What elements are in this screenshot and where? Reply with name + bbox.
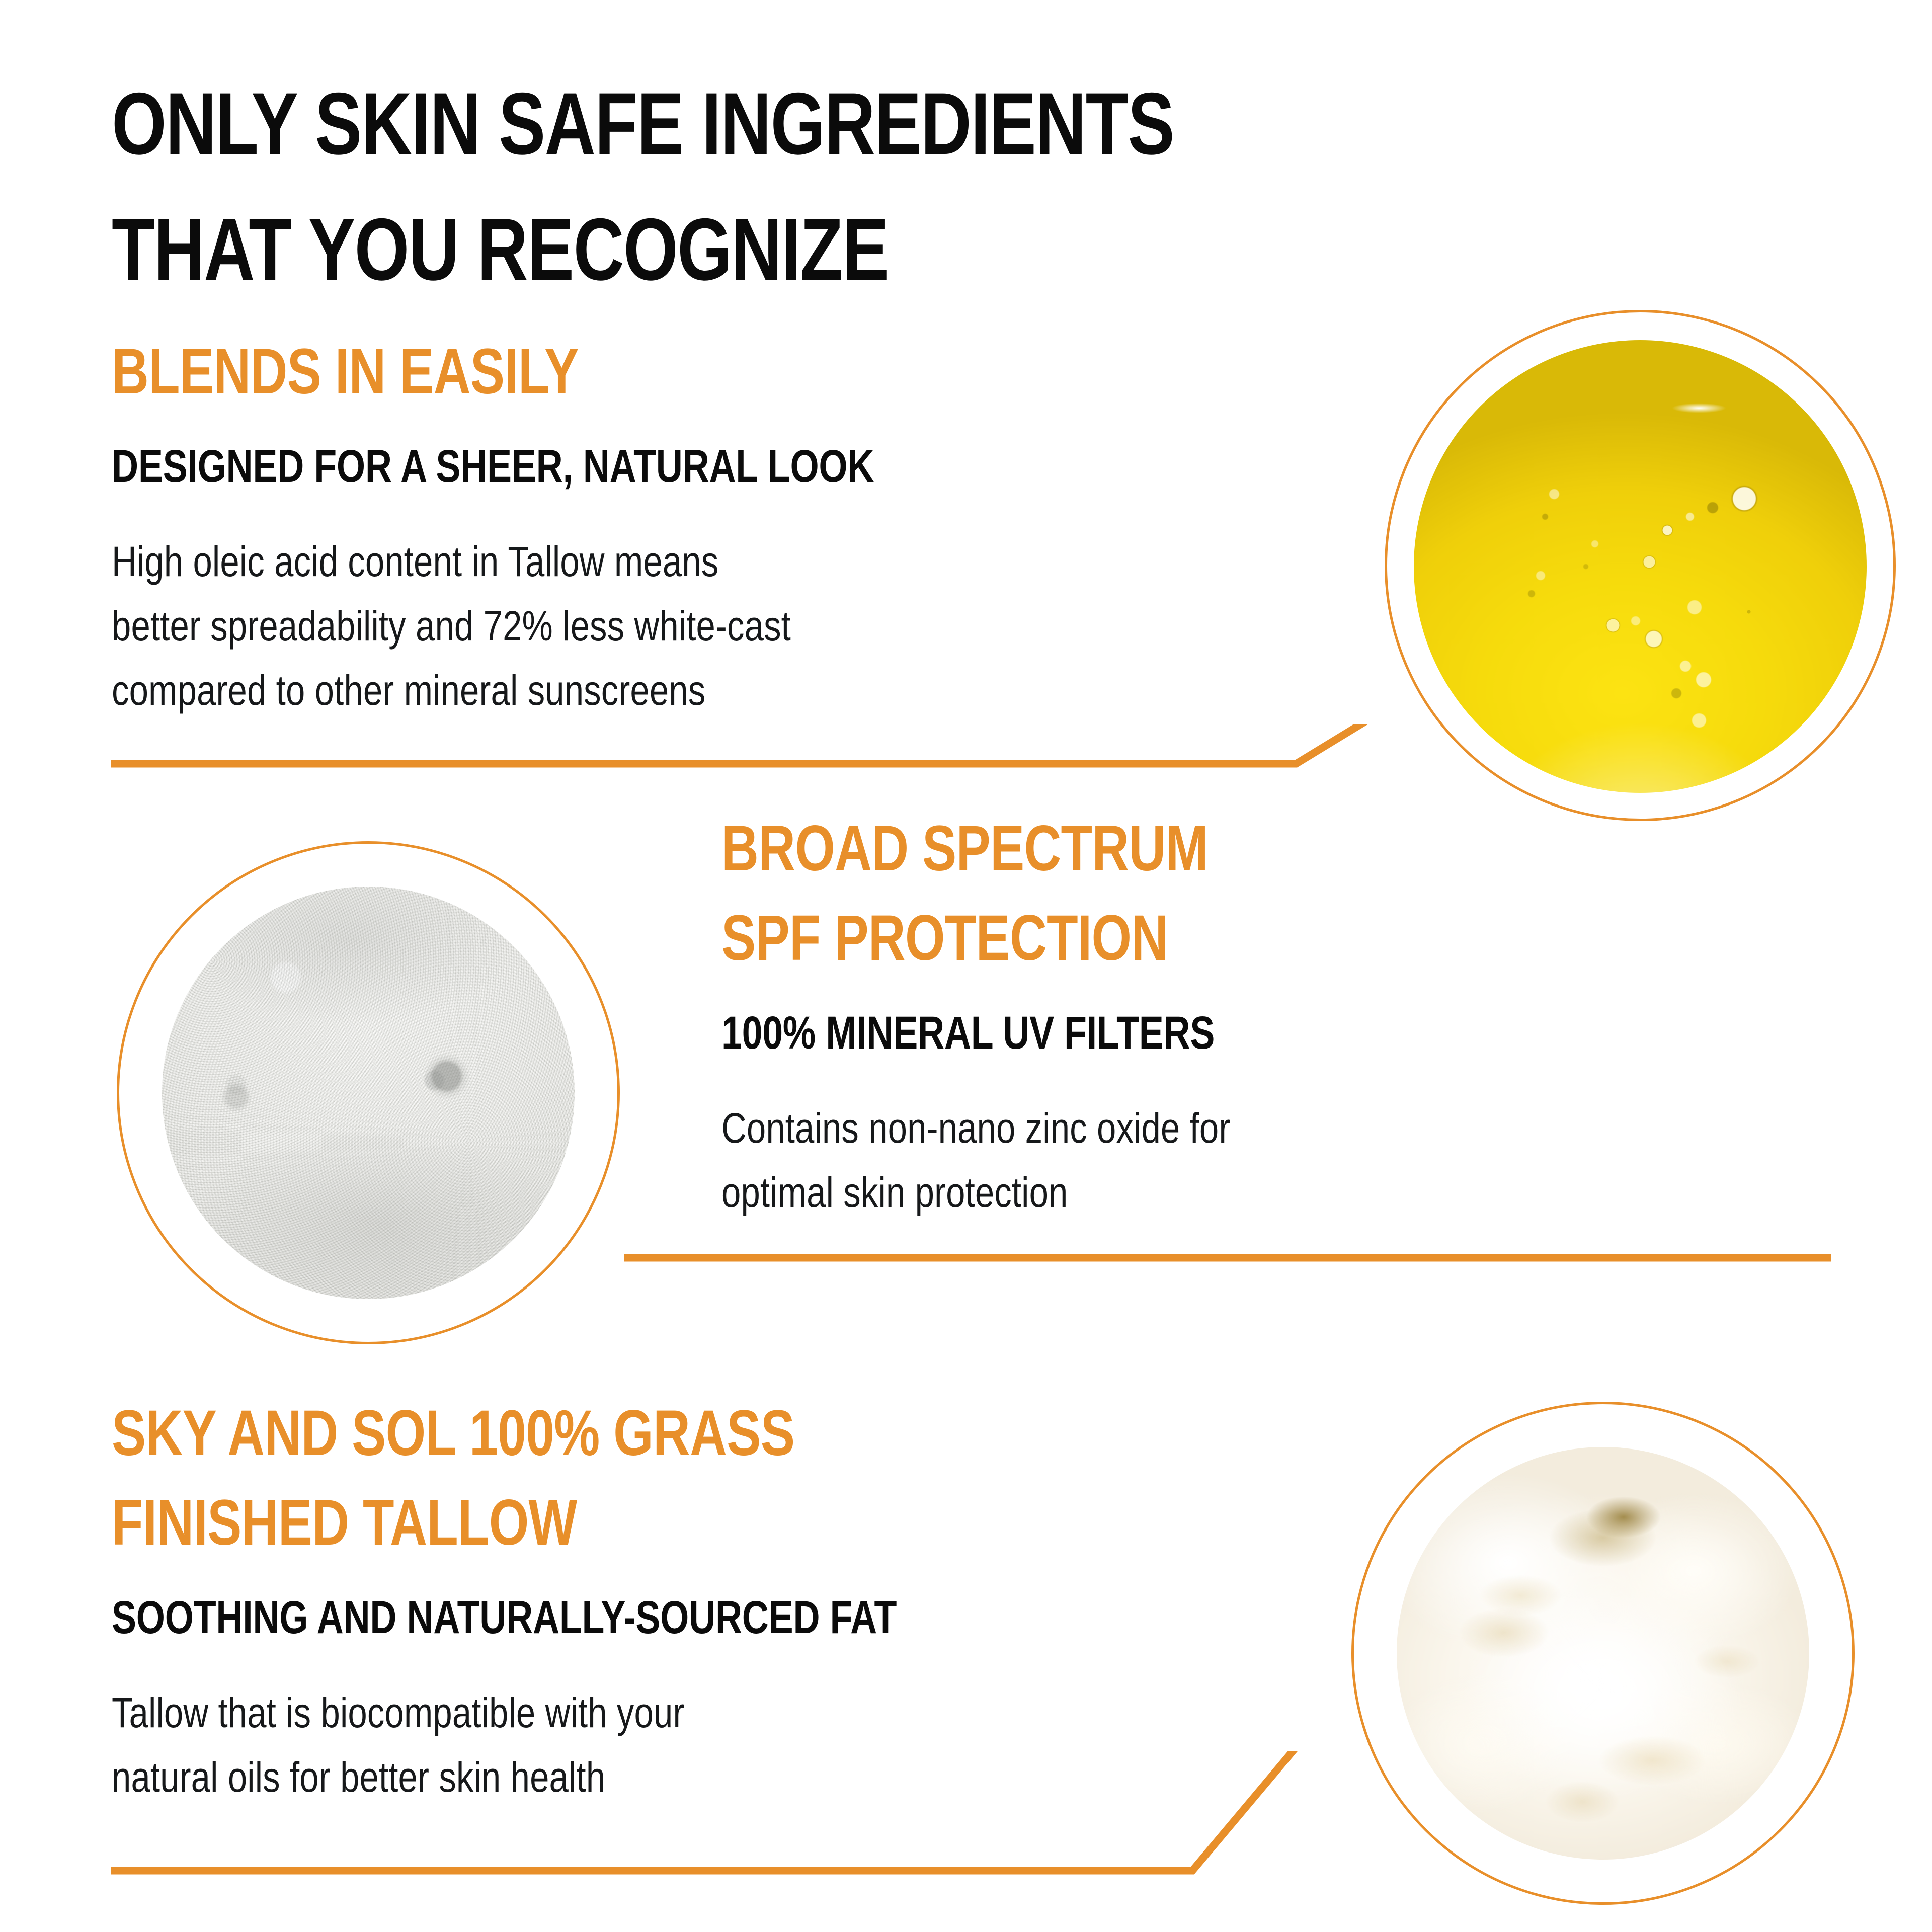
spacer bbox=[112, 417, 1065, 432]
page-title: ONLY SKIN SAFE INGREDIENTS THAT YOU RECO… bbox=[112, 61, 1822, 313]
section-3-heading-line-1: SKY AND SOL 100% GRASS bbox=[112, 1389, 897, 1478]
spacer bbox=[112, 1568, 1093, 1583]
section-2-subheading: 100% MINERAL UV FILTERS bbox=[721, 998, 1218, 1068]
divider-section-3 bbox=[106, 1751, 1414, 1902]
zinc-powder-swatch bbox=[162, 887, 575, 1299]
section-broad-spectrum: BROAD SPECTRUM SPF PROTECTION 100% MINER… bbox=[721, 804, 1342, 1225]
section-1-body-line-2: better spreadability and 72% less white-… bbox=[112, 594, 893, 658]
divider-section-2 bbox=[624, 1243, 1841, 1273]
spacer bbox=[721, 983, 1342, 998]
section-grass-finished-tallow: SKY AND SOL 100% GRASS FINISHED TALLOW S… bbox=[112, 1389, 1093, 1809]
section-2-body-line-1: Contains non-nano zinc oxide for bbox=[721, 1096, 1230, 1160]
section-3-subheading: SOOTHING AND NATURALLY-SOURCED FAT bbox=[112, 1583, 897, 1652]
section-3-heading-line-2: FINISHED TALLOW bbox=[112, 1478, 897, 1568]
tallow-swatch bbox=[1397, 1447, 1809, 1860]
spacer bbox=[112, 501, 1065, 529]
section-1-body-line-1: High oleic acid content in Tallow means bbox=[112, 529, 893, 594]
section-1-subheading: DESIGNED FOR A SHEER, NATURAL LOOK bbox=[112, 432, 874, 501]
spacer bbox=[112, 1652, 1093, 1680]
section-2-heading-line-1: BROAD SPECTRUM bbox=[721, 804, 1218, 894]
section-2-body-line-2: optimal skin protection bbox=[721, 1160, 1230, 1225]
spacer bbox=[721, 1068, 1342, 1096]
section-1-heading: BLENDS IN EASILY bbox=[112, 327, 874, 417]
oil-swatch bbox=[1414, 340, 1867, 793]
section-blends-in-easily: BLENDS IN EASILY DESIGNED FOR A SHEER, N… bbox=[112, 327, 1065, 722]
section-1-body-line-3: compared to other mineral sunscreens bbox=[112, 658, 893, 722]
page-title-line-2: THAT YOU RECOGNIZE bbox=[112, 187, 1480, 313]
section-2-heading-line-2: SPF PROTECTION bbox=[721, 894, 1218, 983]
section-3-body-line-1: Tallow that is biocompatible with your bbox=[112, 1680, 916, 1745]
page-title-line-1: ONLY SKIN SAFE INGREDIENTS bbox=[112, 61, 1480, 187]
